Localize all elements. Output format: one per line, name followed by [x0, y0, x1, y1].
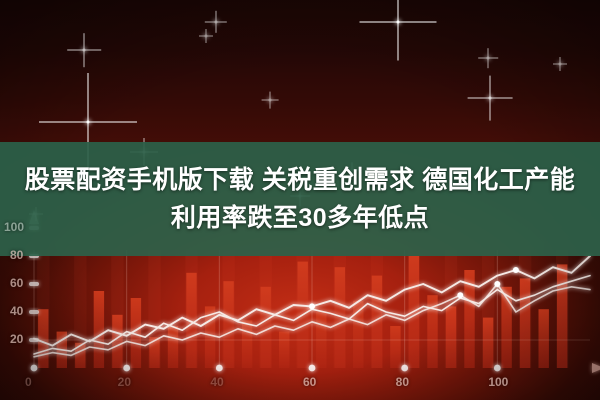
chart-bar — [279, 332, 289, 368]
headline: 股票配资手机版下载 关税重创需求 德国化工产能 利用率跌至30多年低点 — [0, 140, 600, 258]
bar-highlight-stripe — [260, 250, 272, 368]
poster-canvas: 股票配资手机版下载 关税重创需求 德国化工产能 利用率跌至30多年低点 2040… — [0, 0, 600, 400]
data-point-marker — [457, 292, 463, 298]
bar-highlight-stripe — [74, 250, 86, 368]
x-axis-tick-dot — [31, 365, 38, 372]
x-axis-tick-dot — [123, 365, 130, 372]
bar-highlight-stripe — [185, 250, 197, 368]
arrow-right-icon — [592, 363, 600, 373]
x-axis-tick-dot — [216, 365, 223, 372]
chart-bar — [539, 309, 549, 368]
headline-line-1: 股票配资手机版下载 关税重创需求 德国化工产能 — [25, 162, 575, 198]
bar-highlight-stripe — [482, 250, 494, 368]
bar-highlight-stripe — [222, 250, 234, 368]
x-axis-tick-dot — [494, 365, 501, 372]
x-axis-tick-dot — [309, 365, 316, 372]
bar-highlight-stripe — [445, 250, 457, 368]
chart-bar — [168, 326, 178, 368]
x-axis-tick-dot — [401, 365, 408, 372]
data-point-marker — [494, 281, 500, 287]
bar-highlight-stripe — [111, 250, 123, 368]
chart-bar — [390, 326, 400, 368]
chart-bar — [94, 291, 104, 368]
bar-highlight-stripe — [334, 250, 346, 368]
bar-highlight-stripe — [148, 250, 160, 368]
bar-highlight-stripe — [297, 250, 309, 368]
chart-bar — [242, 320, 252, 368]
data-point-marker — [513, 267, 519, 273]
bar-highlight-stripe — [556, 250, 568, 368]
data-point-marker — [309, 303, 315, 309]
headline-line-2: 利用率跌至30多年低点 — [171, 200, 429, 236]
